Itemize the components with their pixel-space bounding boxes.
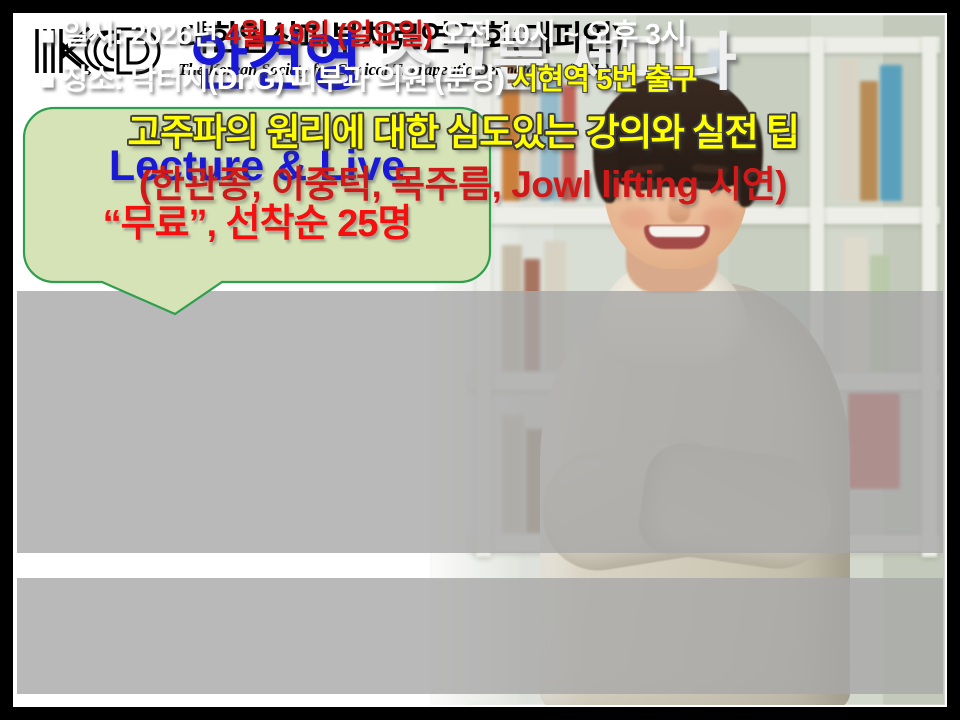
event-date-highlight: 4월 19일 (일요일) <box>225 19 433 51</box>
event-venue-highlight: 서현역 5번 출구 <box>512 64 697 96</box>
seminar-subtitle-demos: (한관종, 이중턱, 목주름, Jowl lifting 시연) <box>139 162 787 208</box>
event-place-row: ■장소: 닥터지(Dr.G) 피부과 의원 (분당) 서현역 5번 출구 <box>40 61 926 100</box>
main-title-panel <box>17 291 943 553</box>
seminar-subtitle-topic: 고주파의 원리에 대한 심도있는 강의와 실전 팁 <box>128 110 799 156</box>
poster-root: 대한임상피부치료연구회(대피연) The Korean Society for … <box>0 0 960 720</box>
event-date-year: 2026년 <box>130 19 217 51</box>
bullet-square-icon: ■ <box>40 22 54 50</box>
event-venue: 닥터지(Dr.G) 피부과 의원 (분당) <box>130 64 504 96</box>
event-time: 오전 10시 ~ 오후 3시 <box>440 19 686 51</box>
event-place-label: 장소: <box>62 64 123 96</box>
event-date-label: 일시: <box>62 19 123 51</box>
event-date-row: ■일시: 2026년 4월 19일 (일요일) 오전 10시 ~ 오후 3시 <box>40 16 926 55</box>
event-info-content: ■일시: 2026년 4월 19일 (일요일) 오전 10시 ~ 오후 3시 ■… <box>0 0 926 116</box>
event-info-panel <box>17 578 943 694</box>
bullet-square-icon: ■ <box>40 67 54 95</box>
